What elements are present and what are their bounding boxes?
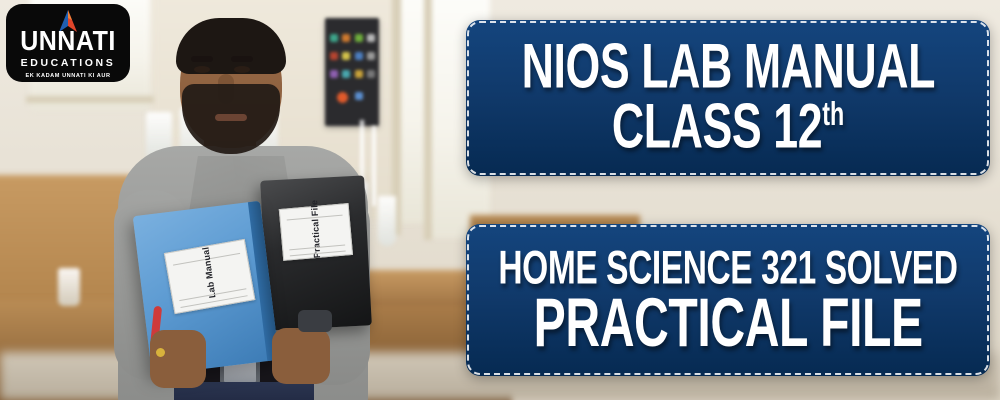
person-photo: Practical File Lab Manual xyxy=(112,10,380,400)
hand-left xyxy=(150,330,206,388)
headline-class-suffix: th xyxy=(822,96,844,133)
black-practical-file-folder: Practical File xyxy=(260,175,372,330)
hand-right xyxy=(272,328,330,384)
headline-line-practical-file: PRACTICAL FILE xyxy=(533,290,922,356)
logo-wordmark: UNNATI xyxy=(20,27,116,55)
logo-tagline: EK KADAM UNNATI KI AUR xyxy=(25,73,110,79)
blue-folder-label: Lab Manual xyxy=(164,239,256,314)
headline-box-bottom: HOME SCIENCE 321 SOLVED PRACTICAL FILE xyxy=(466,224,990,376)
brand-logo[interactable]: UNNATI EDUCATIONS EK KADAM UNNATI KI AUR xyxy=(6,4,130,82)
headline-box-top: NIOS LAB MANUAL CLASS 12th xyxy=(466,20,990,176)
headline-line-class: CLASS 12th xyxy=(612,98,844,159)
headline-line-nios-lab-manual: NIOS LAB MANUAL xyxy=(521,38,934,99)
eye-left xyxy=(194,66,210,73)
hair xyxy=(176,18,286,74)
conical-flask xyxy=(378,196,396,246)
eye-right xyxy=(234,66,250,73)
promo-banner: Practical File Lab Manual xyxy=(0,0,1000,400)
eyebrow-left xyxy=(191,56,213,62)
black-folder-label: Practical File xyxy=(279,203,353,261)
mouth xyxy=(215,114,247,121)
wristwatch xyxy=(298,310,332,332)
logo-subtitle: EDUCATIONS xyxy=(21,58,116,69)
beaker xyxy=(58,268,80,306)
window-frame xyxy=(424,0,432,240)
headline-class-main: CLASS 12 xyxy=(612,91,822,162)
ring xyxy=(156,348,165,357)
eyebrow-right xyxy=(231,56,253,62)
